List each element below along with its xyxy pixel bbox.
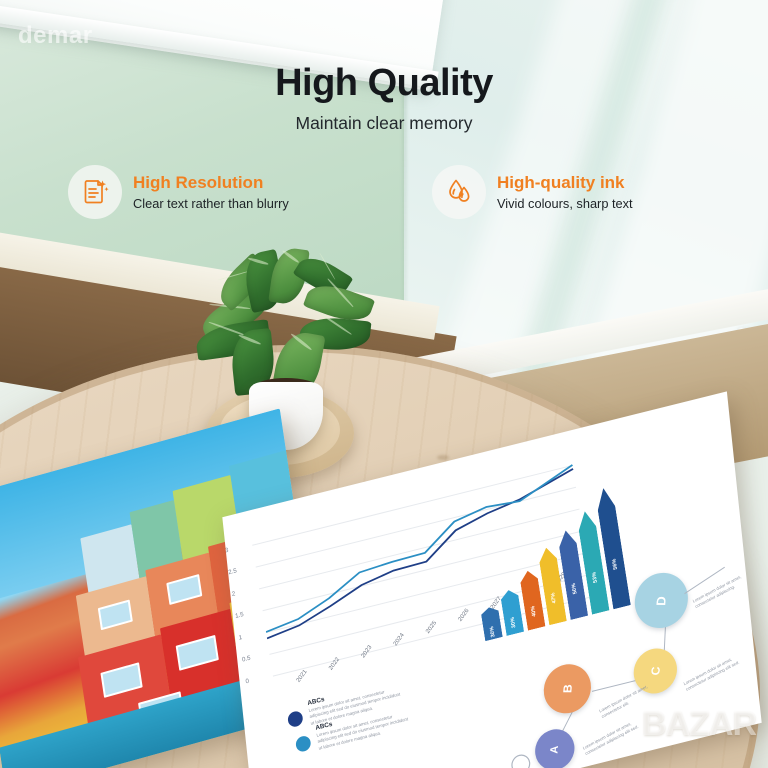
product-marketing-banner: 3 2.5 2 1.5 1 0.5 0 2021 2022 2023 2024 … — [0, 0, 768, 768]
bar-label-7: 56% — [610, 547, 619, 570]
ink-droplets-icon — [432, 165, 486, 219]
wood-knot — [437, 455, 449, 460]
y-axis-tick: 2.5 — [228, 567, 237, 576]
x-axis-tick: 2025 — [425, 620, 438, 635]
node-a: A — [532, 725, 577, 768]
page-subtitle: Maintain clear memory — [0, 113, 768, 134]
document-sparkle-icon — [68, 165, 122, 219]
y-axis-tick: 0 — [245, 678, 249, 686]
page-title: High Quality — [0, 62, 768, 105]
connector-b-c — [592, 680, 637, 692]
feature-high-resolution: High Resolution Clear text rather than b… — [68, 165, 289, 219]
feature-title: High-quality ink — [497, 173, 633, 193]
node-b: B — [540, 659, 594, 718]
node-start-circle — [507, 750, 534, 768]
y-axis-tick: 1 — [238, 634, 242, 642]
legend-dot-series-1 — [287, 710, 304, 729]
x-axis-tick: 2026 — [458, 608, 471, 623]
bar-label-1: 30% — [487, 615, 496, 638]
bar-label-6: 53% — [590, 560, 599, 583]
node-caption-c: Lorem ipsum dolor sit amet, consectetur … — [683, 647, 755, 694]
bar-1: 30% — [480, 605, 502, 641]
bar-label-2: 30% — [508, 605, 517, 628]
feature-title: High Resolution — [133, 173, 289, 193]
bar-label-5: 50% — [569, 571, 578, 594]
brand-watermark: demar — [18, 22, 93, 50]
y-axis-tick: 0.5 — [242, 655, 251, 664]
feature-high-quality-ink: High-quality ink Vivid colours, sharp te… — [432, 165, 633, 219]
bar-label-3: 40% — [528, 594, 537, 617]
y-axis-tick: 1.5 — [235, 611, 244, 620]
y-axis-tick: 2 — [231, 590, 235, 598]
x-axis-tick: 2021 — [296, 669, 309, 684]
feature-subtitle: Vivid colours, sharp text — [497, 196, 633, 211]
marketplace-watermark: BAZAR — [642, 705, 756, 744]
x-axis-tick: 2022 — [328, 657, 341, 672]
feature-subtitle: Clear text rather than blurry — [133, 196, 289, 211]
bar-label-4: 47% — [549, 581, 558, 604]
legend-dot-series-2 — [295, 735, 312, 754]
